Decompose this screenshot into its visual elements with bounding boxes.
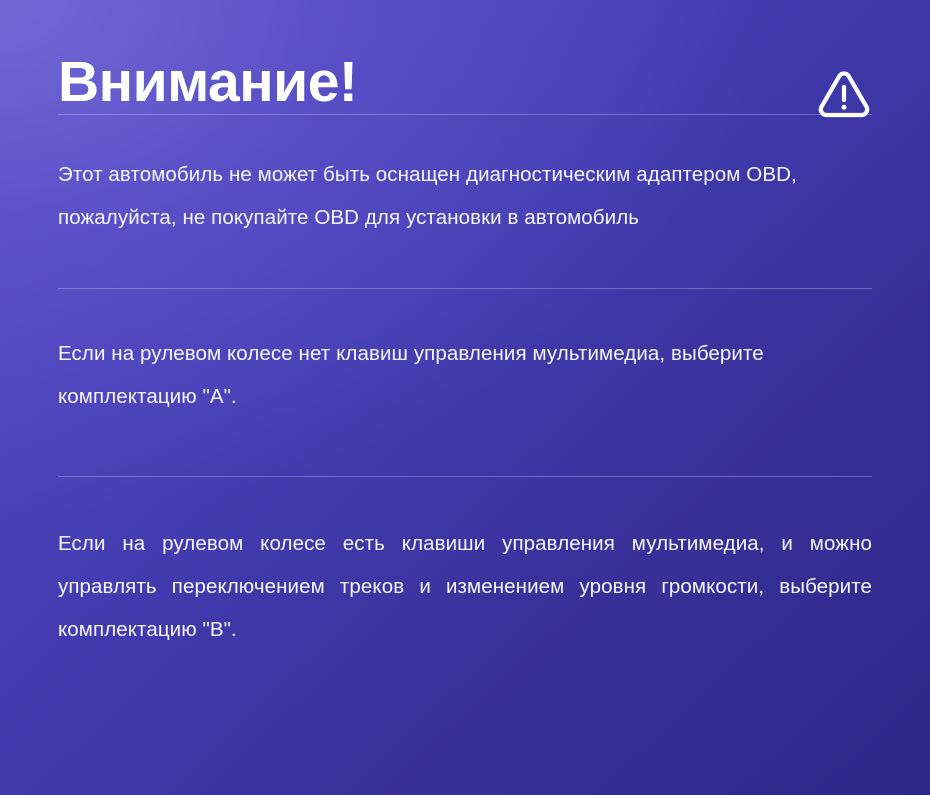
page-title: Внимание! (58, 54, 357, 111)
notice-block-variant-a-instruction: Если на рулевом колесе нет клавиш управл… (58, 289, 872, 476)
notice-block-variant-b-instruction: Если на рулевом колесе есть клавиши упра… (58, 477, 872, 691)
notice-header: Внимание! (58, 0, 872, 106)
notice-block-obd-adapter-warning: Этот автомобиль не может быть оснащен ди… (58, 115, 872, 288)
warning-triangle-icon (816, 66, 872, 122)
warning-notice-card: Внимание! Этот автомобиль не может быть … (0, 0, 930, 795)
